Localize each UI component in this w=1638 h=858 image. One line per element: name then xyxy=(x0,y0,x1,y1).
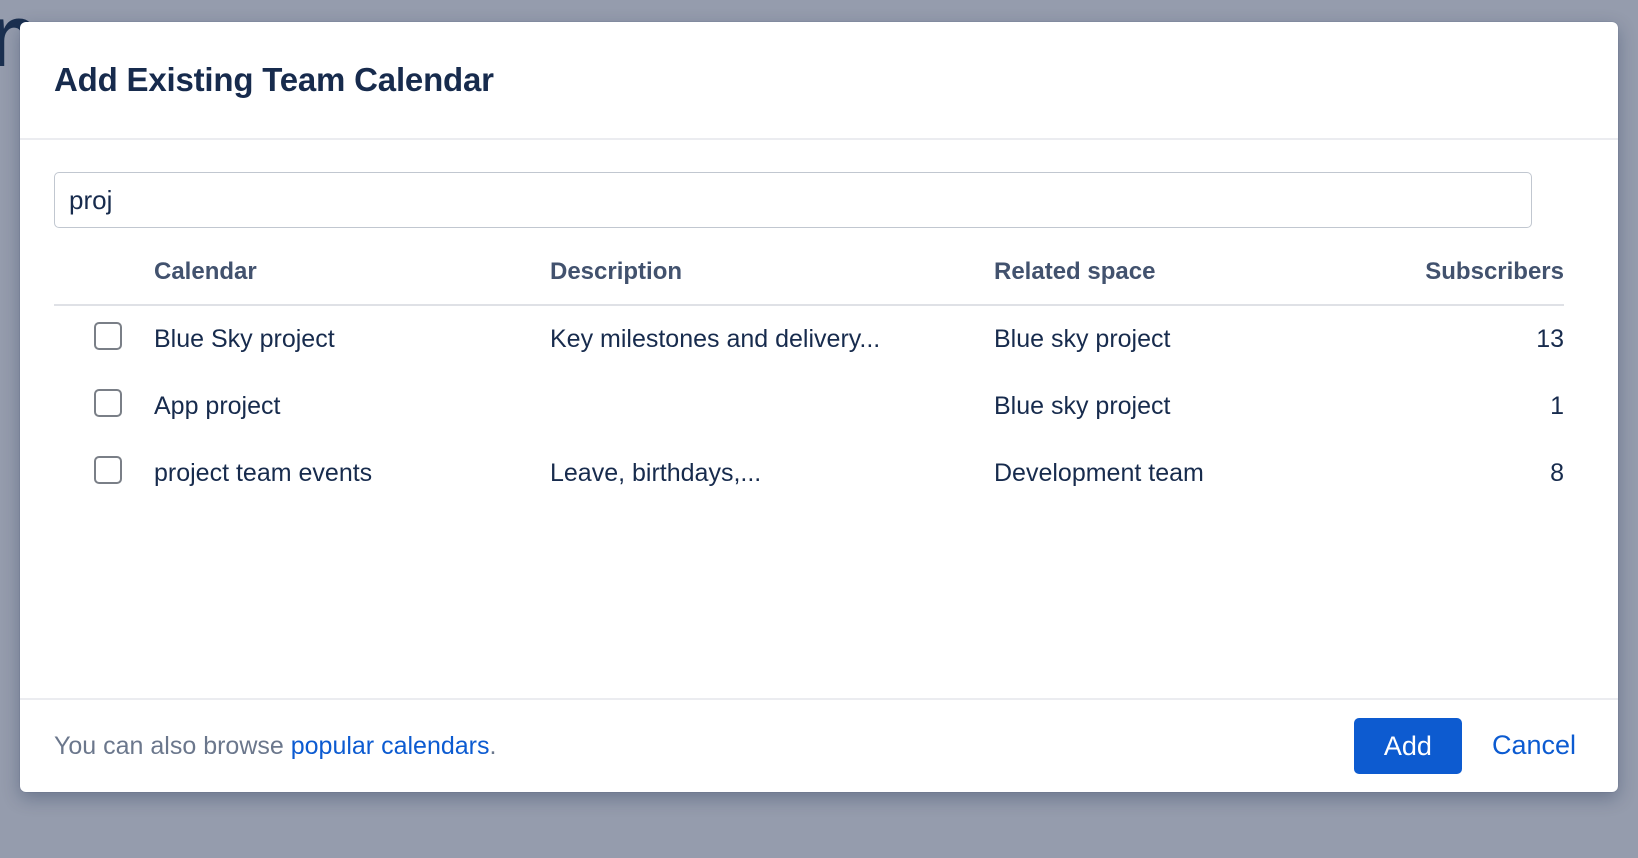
calendar-results-table: Calendar Description Related space Subsc… xyxy=(54,258,1564,507)
footer-note-prefix: You can also browse xyxy=(54,732,291,760)
cell-related-space: Blue sky project xyxy=(994,305,1374,373)
cell-calendar-name: Blue Sky project xyxy=(154,305,550,373)
table-body: Blue Sky project Key milestones and deli… xyxy=(54,305,1564,507)
cell-description: Leave, birthdays,... xyxy=(550,440,994,507)
footer-note: You can also browse popular calendars. xyxy=(54,732,496,761)
column-header-calendar: Calendar xyxy=(154,258,550,305)
cell-description xyxy=(550,373,994,440)
table-row[interactable]: Blue Sky project Key milestones and deli… xyxy=(54,305,1564,373)
dialog-header: Add Existing Team Calendar xyxy=(20,22,1618,140)
table-row[interactable]: App project Blue sky project 1 xyxy=(54,373,1564,440)
add-existing-team-calendar-dialog: Add Existing Team Calendar Calendar Desc… xyxy=(20,22,1618,792)
cell-calendar-name: project team events xyxy=(154,440,550,507)
table-row[interactable]: project team events Leave, birthdays,...… xyxy=(54,440,1564,507)
page-title: Add Existing Team Calendar xyxy=(54,61,494,99)
column-header-subscribers: Subscribers xyxy=(1374,258,1564,305)
cell-subscribers: 8 xyxy=(1374,440,1564,507)
cell-description: Key milestones and delivery... xyxy=(550,305,994,373)
dialog-body: Calendar Description Related space Subsc… xyxy=(20,140,1618,698)
row-checkbox[interactable] xyxy=(94,322,122,350)
cell-calendar-name: App project xyxy=(154,373,550,440)
cell-related-space: Blue sky project xyxy=(994,373,1374,440)
dialog-footer: You can also browse popular calendars. A… xyxy=(20,698,1618,792)
row-select-cell xyxy=(54,440,154,507)
footer-actions: Add Cancel xyxy=(1354,718,1584,774)
add-button[interactable]: Add xyxy=(1354,718,1462,774)
column-header-related-space: Related space xyxy=(994,258,1374,305)
row-checkbox[interactable] xyxy=(94,389,122,417)
cell-related-space: Development team xyxy=(994,440,1374,507)
table-header-row: Calendar Description Related space Subsc… xyxy=(54,258,1564,305)
cell-subscribers: 13 xyxy=(1374,305,1564,373)
search-input[interactable] xyxy=(54,172,1532,228)
row-checkbox[interactable] xyxy=(94,456,122,484)
row-select-cell xyxy=(54,373,154,440)
popular-calendars-link[interactable]: popular calendars xyxy=(291,732,490,760)
column-header-description: Description xyxy=(550,258,994,305)
cancel-button[interactable]: Cancel xyxy=(1484,724,1584,767)
footer-note-suffix: . xyxy=(489,732,496,760)
cell-subscribers: 1 xyxy=(1374,373,1564,440)
column-header-select xyxy=(54,258,154,305)
row-select-cell xyxy=(54,305,154,373)
